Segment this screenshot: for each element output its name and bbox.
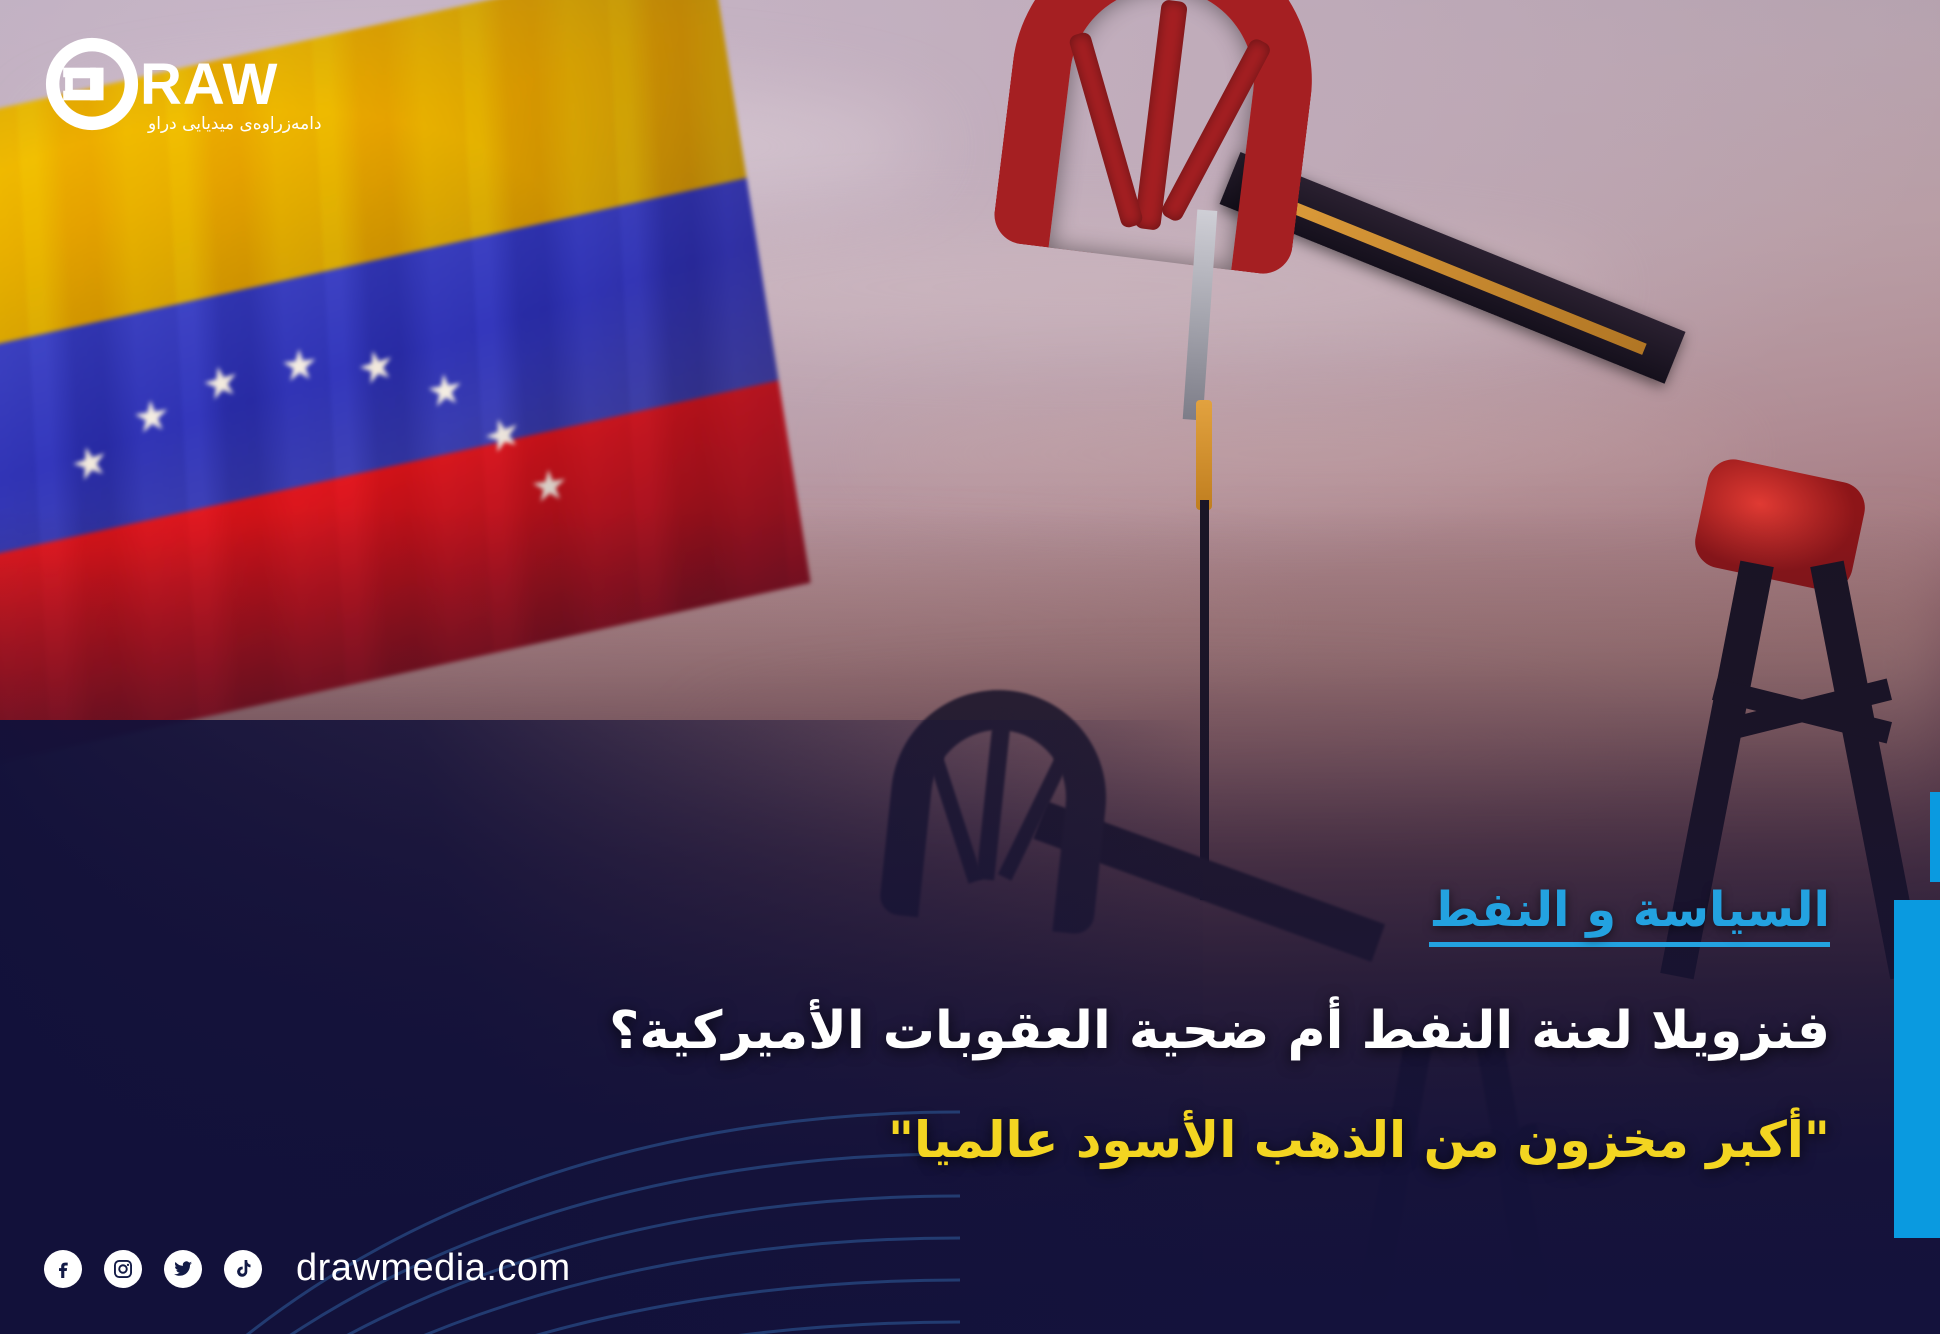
logo-subtitle-kurdish: دامەزراوەی میدیایی دراو <box>148 116 322 133</box>
twitter-icon[interactable] <box>164 1250 202 1288</box>
facebook-icon[interactable] <box>44 1250 82 1288</box>
accent-bar-main <box>1894 900 1940 1238</box>
headline: فنزويلا لعنة النفط أم ضحية العقوبات الأم… <box>609 1000 1830 1062</box>
category-kicker: السياسة و النفط <box>1429 886 1830 947</box>
subheadline-text: "أكبر مخزون من الذهب الأسود عالميا" <box>888 1111 1830 1169</box>
subheadline-quote: "أكبر مخزون من الذهب الأسود عالميا" <box>888 1110 1830 1170</box>
accent-bar-top <box>1930 792 1940 882</box>
logo-d-mark-icon <box>44 36 140 132</box>
website-url[interactable]: drawmedia.com <box>296 1247 571 1290</box>
footer-social-bar: drawmedia.com <box>44 1247 571 1290</box>
logo-wordmark: RAW <box>140 56 278 114</box>
instagram-icon[interactable] <box>104 1250 142 1288</box>
draw-media-logo[interactable]: RAW دامەزراوەی میدیایی دراو <box>44 30 354 140</box>
tiktok-icon[interactable] <box>224 1250 262 1288</box>
poster-canvas: RAW دامەزراوەی میدیایی دراو السياسة و ال… <box>0 0 1940 1334</box>
